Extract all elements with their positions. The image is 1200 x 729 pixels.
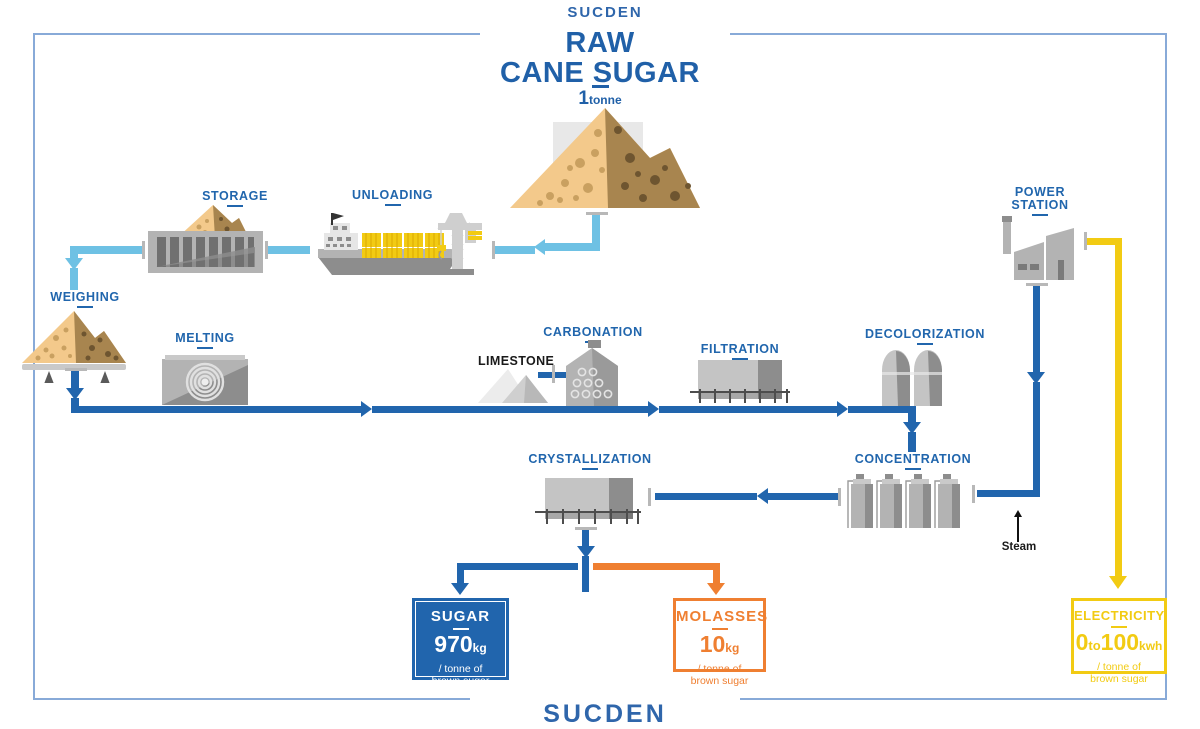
pipe-cap-steam-in: [972, 485, 975, 503]
output-molasses-basis-1: / tonne of: [698, 663, 742, 675]
limestone-pile-icon: [478, 355, 563, 405]
stage-label-crystallization-text: CRYSTALLIZATION: [528, 452, 651, 466]
pipe-cap-storage-in: [142, 241, 145, 259]
flow-split-molasses-v: [713, 563, 720, 585]
flow-arrow-sugar: [451, 583, 469, 595]
input-amount: 1tonne: [500, 88, 700, 110]
flow-arrow-main-2: [648, 401, 659, 417]
output-molasses-basis-2: brown sugar: [691, 675, 749, 687]
output-sugar-unit: kg: [473, 641, 487, 655]
stage-label-weighing: WEIGHING: [0, 290, 175, 308]
flow-split-sugar-v: [457, 563, 464, 585]
storage-warehouse-icon: [148, 231, 263, 273]
pipe-cap-concentration-out: [838, 488, 841, 506]
brand-top: SUCDEN: [480, 4, 730, 21]
pipe-cap-crystallization-in: [648, 488, 651, 506]
stage-label-decolorization-text: DECOLORIZATION: [865, 327, 985, 341]
output-sugar-basis: / tonne of brown sugar: [416, 663, 505, 687]
input-amount-unit: tonne: [589, 93, 622, 107]
flow-row2-a: [768, 493, 838, 500]
filtration-unit-icon: [690, 360, 790, 405]
output-electricity-value: 0to100kwh: [1074, 630, 1164, 659]
stage-label-filtration: FILTRATION: [670, 342, 810, 360]
flow-arrow-electricity: [1109, 576, 1127, 589]
stage-label-decolorization: DECOLORIZATION: [830, 327, 1020, 345]
flow-arrow-main-3: [837, 401, 848, 417]
pipe-cap-limestone: [552, 365, 555, 383]
flow-split-sugar-h: [457, 563, 578, 570]
output-electricity-name: ELECTRICITY: [1074, 608, 1164, 623]
flow-weighing-down: [70, 268, 78, 290]
steam-arrow-stem: [1017, 517, 1019, 542]
stage-label-storage-text: STORAGE: [202, 189, 268, 203]
flow-main-row1-a: [71, 406, 361, 413]
raw-sugar-pile-icon: [510, 108, 700, 213]
flow-storage-to-weighing: [78, 246, 142, 254]
output-sugar-basis-1: / tonne of: [439, 663, 483, 675]
flow-arrow-molasses: [707, 583, 725, 595]
output-molasses-number: 10: [700, 631, 726, 657]
flow-split-molasses-h: [593, 563, 720, 570]
stage-label-melting-text: MELTING: [175, 331, 235, 345]
decolorization-columns-icon: [880, 348, 950, 406]
flow-main-row1-c: [659, 406, 837, 413]
stage-label-carbonation-text: CARBONATION: [543, 325, 642, 339]
concentration-evaporators-icon: [847, 472, 969, 530]
output-electricity-from: 0: [1076, 629, 1089, 655]
power-station-icon: [1000, 216, 1078, 283]
unloading-ship-crane-icon: [310, 205, 495, 280]
output-molasses-name: MOLASSES: [676, 608, 763, 625]
stage-label-concentration: CONCENTRATION: [828, 452, 998, 470]
output-sugar-value: 970kg: [416, 632, 505, 661]
flow-steam-down-b: [1033, 382, 1040, 497]
flow-main-row1-d: [848, 406, 916, 413]
flow-electricity-v: [1115, 238, 1122, 578]
output-electricity-to: 100: [1101, 629, 1139, 655]
stage-label-crystallization: CRYSTALLIZATION: [500, 452, 680, 470]
output-electricity-basis-1: / tonne of: [1097, 661, 1141, 673]
stage-label-steam: Steam: [993, 541, 1045, 553]
flow-storage-to-unloading: [268, 246, 310, 254]
process-diagram: SUCDEN SUCDEN RAW CANE SUGAR 1tonne STOR…: [0, 0, 1200, 729]
output-sugar-name: SUGAR: [416, 608, 505, 625]
output-electricity-connector: to: [1088, 638, 1100, 653]
title-line-1: RAW: [420, 28, 780, 58]
input-amount-value: 1: [578, 88, 589, 109]
flow-arrow-row2-1: [757, 488, 768, 504]
flow-arrow-raw-left: [534, 239, 545, 255]
title-line-2: CANE SUGAR: [420, 58, 780, 88]
stage-label-weighing-text: WEIGHING: [50, 290, 119, 304]
flow-steam-into-concentration: [977, 490, 1040, 497]
crystallization-unit-icon: [533, 478, 643, 526]
stage-label-unloading-text: UNLOADING: [352, 188, 433, 202]
flow-row2-b: [655, 493, 757, 500]
output-sugar-number: 970: [434, 631, 472, 657]
output-molasses-value: 10kg: [676, 632, 763, 661]
output-molasses-unit: kg: [725, 641, 739, 655]
stage-label-power-station: POWER STATION: [975, 186, 1105, 216]
flow-decolor-to-concentration: [908, 432, 916, 452]
output-molasses-basis: / tonne of brown sugar: [676, 663, 763, 687]
melting-tank-icon: [162, 355, 248, 405]
flow-raw-left: [545, 243, 600, 251]
flow-steam-down-a: [1033, 286, 1040, 374]
stage-label-filtration-text: FILTRATION: [701, 342, 779, 356]
output-box-sugar[interactable]: SUGAR 970kg / tonne of brown sugar: [412, 598, 509, 680]
carbonation-vessel-icon: [562, 340, 622, 408]
output-box-electricity[interactable]: ELECTRICITY 0to100kwh / tonne of brown s…: [1071, 598, 1167, 674]
output-sugar-basis-2: brown sugar: [432, 675, 490, 687]
output-electricity-unit: kwh: [1139, 639, 1162, 653]
steam-arrow-icon: [1014, 510, 1022, 517]
page-title: RAW CANE SUGAR: [420, 28, 780, 88]
stage-label-melting: MELTING: [130, 331, 280, 349]
flow-crystal-down-b: [582, 556, 589, 592]
output-electricity-basis-2: brown sugar: [1090, 673, 1148, 685]
output-electricity-basis: / tonne of brown sugar: [1074, 661, 1164, 685]
flow-arrow-main-1: [361, 401, 372, 417]
brand-bottom: SUCDEN: [470, 700, 740, 729]
output-box-molasses[interactable]: MOLASSES 10kg / tonne of brown sugar: [673, 598, 766, 672]
flow-unloading-in: [495, 246, 535, 254]
stage-label-concentration-text: CONCENTRATION: [855, 452, 972, 466]
stage-label-power-station-line2: STATION: [1011, 198, 1068, 212]
stage-label-unloading: UNLOADING: [305, 188, 480, 206]
stage-label-power-station-line1: POWER: [1015, 185, 1065, 199]
